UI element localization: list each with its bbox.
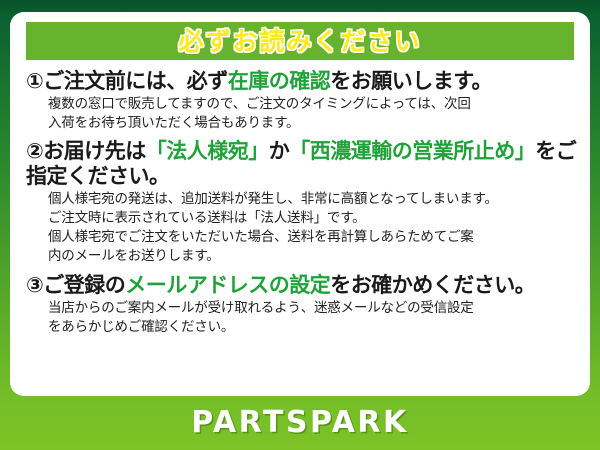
- notice-item-2-head-part-2: か: [269, 139, 290, 163]
- notice-item-2-head-part-0: お届け先は: [43, 139, 146, 163]
- notice-item-1-body-line-1: 入荷をお待ち頂いただく場合もあります。: [48, 114, 578, 133]
- brand-logo-text: PARTSPARK: [191, 408, 409, 438]
- notice-item-2-body-line-3: 内のメールをお送りします。: [48, 247, 578, 266]
- notice-banner: 必ずお読みください ①ご注文前には、必ず在庫の確認をお願いします。 複数の窓口で…: [0, 0, 600, 450]
- notice-item-2-body-line-2: 個人様宅宛でご注文をいただいた場合、送料を再計算しあらためてご案: [48, 228, 578, 247]
- notice-item-3-body-line-1: をあらかじめご確認ください。: [48, 318, 578, 337]
- notice-item-1-head-highlight: 在庫の確認: [228, 69, 331, 93]
- notice-item-1-heading: ①ご注文前には、必ず在庫の確認をお願いします。: [26, 68, 578, 94]
- notice-item-2: ②お届け先は「法人様宛」か「西濃運輸の営業所止め」をご指定ください。 個人様宅宛…: [26, 139, 578, 266]
- page-title: 必ずお読みください: [178, 29, 421, 54]
- notice-item-list: ①ご注文前には、必ず在庫の確認をお願いします。 複数の窓口で販売してますので、ご…: [26, 68, 578, 341]
- notice-item-3-body-line-0: 当店からのご案内メールが受け取れるよう、迷惑メールなどの受信設定: [48, 299, 578, 318]
- footer-bar: PARTSPARK: [0, 396, 600, 450]
- notice-item-3-body: 当店からのご案内メールが受け取れるよう、迷惑メールなどの受信設定 をあらかじめご…: [26, 299, 578, 337]
- notice-item-2-body-line-1: ご注文時に表示されている送料は「法人送料」です。: [48, 209, 578, 228]
- notice-item-2-heading: ②お届け先は「法人様宛」か「西濃運輸の営業所止め」をご指定ください。: [26, 139, 578, 189]
- notice-item-1-body-line-0: 複数の窓口で販売してますので、ご注文のタイミングによっては、次回: [48, 95, 578, 114]
- notice-item-1-head-part-0: ご注文前には、必ず: [43, 69, 228, 93]
- notice-item-3-heading: ③ご登録のメールアドレスの設定をお確かめください。: [26, 272, 578, 298]
- notice-item-1-body: 複数の窓口で販売してますので、ご注文のタイミングによっては、次回 入荷をお待ち頂…: [26, 95, 578, 133]
- notice-item-3-head-part-0: ご登録の: [43, 273, 125, 297]
- notice-item-2-body: 個人様宅宛の発送は、追加送料が発生し、非常に高額となってしまいます。 ご注文時に…: [26, 190, 578, 266]
- notice-item-2-body-line-0: 個人様宅宛の発送は、追加送料が発生し、非常に高額となってしまいます。: [48, 190, 578, 209]
- notice-item-2-marker: ②: [26, 139, 43, 163]
- notice-item-3: ③ご登録のメールアドレスの設定をお確かめください。 当店からのご案内メールが受け…: [26, 272, 578, 337]
- notice-item-2-head-highlight-2: 「西濃運輸の営業所止め」: [289, 139, 535, 163]
- notice-item-1-head-part-2: をお願いします。: [330, 69, 492, 93]
- notice-item-1-marker: ①: [26, 69, 43, 93]
- notice-item-2-head-highlight-1: 「法人様宛」: [146, 139, 269, 163]
- notice-card: 必ずお読みください ①ご注文前には、必ず在庫の確認をお願いします。 複数の窓口で…: [10, 12, 590, 396]
- notice-item-3-head-highlight: メールアドレスの設定: [125, 273, 330, 297]
- header-bar: 必ずお読みください: [26, 22, 574, 60]
- notice-item-3-marker: ③: [26, 273, 43, 297]
- notice-item-1: ①ご注文前には、必ず在庫の確認をお願いします。 複数の窓口で販売してますので、ご…: [26, 68, 578, 133]
- notice-item-3-head-part-2: をお確かめください。: [330, 273, 535, 297]
